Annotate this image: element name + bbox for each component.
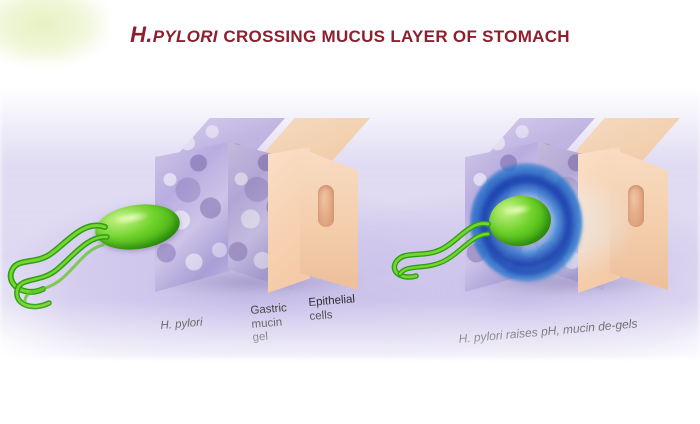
epithelial-nucleus-right — [628, 185, 644, 227]
title-species-abbrev: H. — [130, 22, 153, 47]
bottom-fade — [0, 300, 700, 424]
h-pylori-flagella-right — [388, 218, 493, 298]
figure-title: H.PYLORI CROSSING MUCUS LAYER OF STOMACH — [0, 22, 700, 48]
figure-canvas: H.PYLORI CROSSING MUCUS LAYER OF STOMACH — [0, 0, 700, 424]
title-species-name: PYLORI — [153, 27, 218, 46]
epithelial-nucleus — [318, 185, 334, 227]
title-rest: CROSSING MUCUS LAYER OF STOMACH — [223, 27, 570, 46]
